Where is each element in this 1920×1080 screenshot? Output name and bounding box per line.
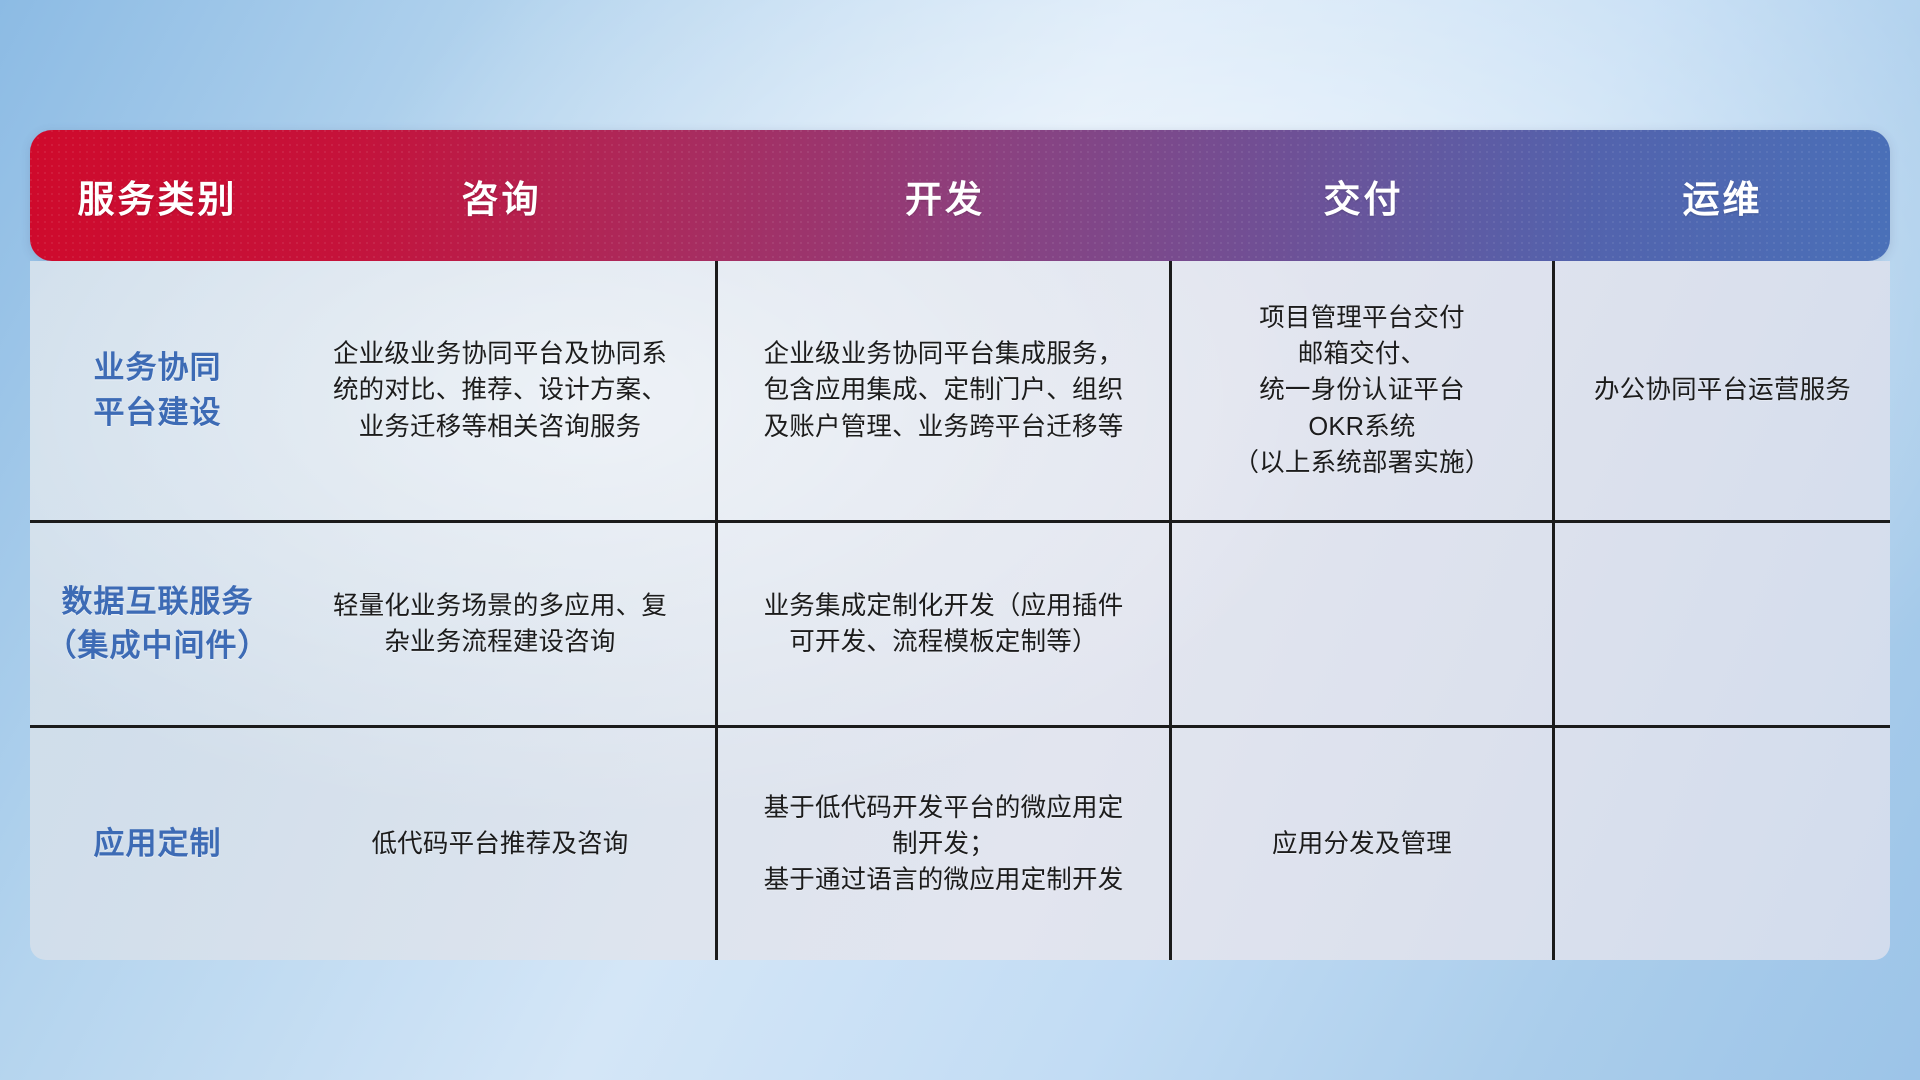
cell-consulting: 低代码平台推荐及咨询 <box>285 728 718 960</box>
table-row: 数据互联服务 （集成中间件） 轻量化业务场景的多应用、复 杂业务流程建设咨询 业… <box>30 523 1890 728</box>
cell-operations <box>1555 523 1890 725</box>
column-header-delivery: 交付 <box>1172 169 1555 223</box>
cell-development: 企业级业务协同平台集成服务， 包含应用集成、定制门户、组织 及账户管理、业务跨平… <box>718 261 1172 520</box>
table-header-bar: 服务类别 咨询 开发 交付 运维 <box>30 130 1890 261</box>
cell-development: 业务集成定制化开发（应用插件 可开发、流程模板定制等） <box>718 523 1172 725</box>
cell-operations: 办公协同平台运营服务 <box>1555 261 1890 520</box>
cell-consulting: 轻量化业务场景的多应用、复 杂业务流程建设咨询 <box>285 523 718 725</box>
table-row: 业务协同 平台建设 企业级业务协同平台及协同系 统的对比、推荐、设计方案、 业务… <box>30 261 1890 523</box>
cell-delivery: 项目管理平台交付 邮箱交付、 统一身份认证平台 OKR系统 （以上系统部署实施） <box>1172 261 1555 520</box>
column-header-consulting: 咨询 <box>285 169 718 223</box>
row-label-data-integration: 数据互联服务 （集成中间件） <box>30 523 285 725</box>
column-header-development: 开发 <box>718 169 1172 223</box>
cell-delivery <box>1172 523 1555 725</box>
row-label-business-collaboration: 业务协同 平台建设 <box>30 261 285 520</box>
table-row: 应用定制 低代码平台推荐及咨询 基于低代码开发平台的微应用定 制开发； 基于通过… <box>30 728 1890 960</box>
service-matrix-table: 服务类别 咨询 开发 交付 运维 业务协同 平台建设 企业级业务协同平台及协同系… <box>30 130 1890 960</box>
table-body: 业务协同 平台建设 企业级业务协同平台及协同系 统的对比、推荐、设计方案、 业务… <box>30 261 1890 960</box>
row-label-app-customization: 应用定制 <box>30 728 285 960</box>
column-header-operations: 运维 <box>1555 169 1890 223</box>
cell-consulting: 企业级业务协同平台及协同系 统的对比、推荐、设计方案、 业务迁移等相关咨询服务 <box>285 261 718 520</box>
cell-development: 基于低代码开发平台的微应用定 制开发； 基于通过语言的微应用定制开发 <box>718 728 1172 960</box>
cell-delivery: 应用分发及管理 <box>1172 728 1555 960</box>
cell-operations <box>1555 728 1890 960</box>
column-header-service-category: 服务类别 <box>30 169 285 223</box>
